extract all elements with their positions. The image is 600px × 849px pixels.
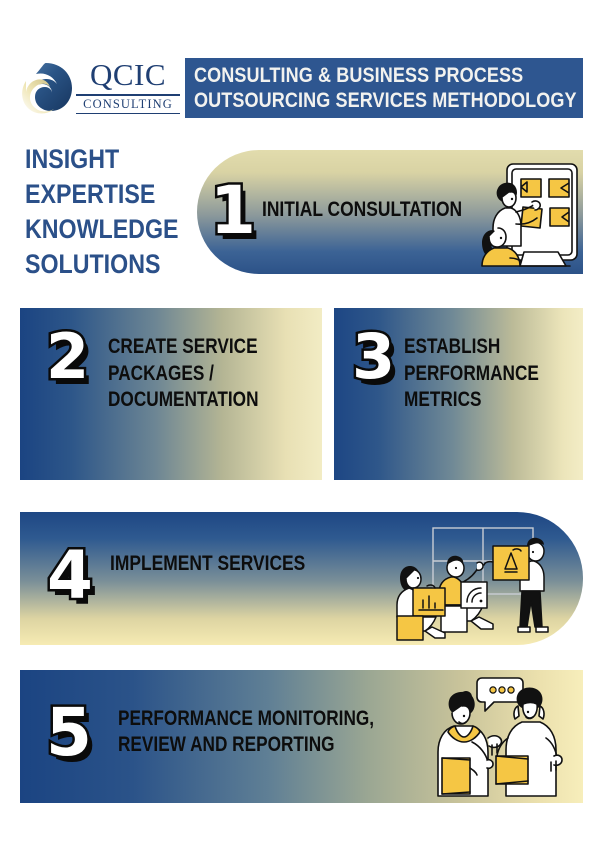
logo-subtitle: CONSULTING	[76, 98, 180, 111]
slogan-block: INSIGHT EXPERTISE KNOWLEDGE SOLUTIONS	[25, 142, 195, 282]
infographic-page: QCIC CONSULTING CONSULTING & BUSINESS PR…	[0, 0, 600, 849]
logo-divider-lower	[76, 113, 180, 114]
step-label-5: PERFORMANCE MONITORING, REVIEW AND REPOR…	[118, 706, 430, 758]
step-label-3: ESTABLISH PERFORMANCE METRICS	[404, 334, 569, 414]
logo-divider	[76, 94, 180, 96]
step-label-3-line-3: METRICS	[404, 387, 539, 414]
step-label-1-line-1: INITIAL CONSULTATION	[262, 198, 462, 222]
page-header: QCIC CONSULTING CONSULTING & BUSINESS PR…	[0, 0, 600, 132]
step-number-4: 4	[47, 543, 93, 609]
step-label-3-line-2: PERFORMANCE	[404, 361, 539, 388]
logo-wordmark-block: QCIC CONSULTING	[76, 59, 180, 114]
logo-wordmark: QCIC	[76, 59, 180, 90]
header-banner: CONSULTING & BUSINESS PROCESS OUTSOURCIN…	[185, 58, 583, 118]
swirl-spiral-icon	[18, 61, 74, 117]
step-label-5-line-2: REVIEW AND REPORTING	[118, 732, 374, 758]
slogan-line-expertise: EXPERTISE	[25, 177, 171, 212]
step-number-3: 3	[352, 326, 395, 388]
step-label-2-line-1: CREATE SERVICE	[108, 334, 259, 361]
slogan-line-insight: INSIGHT	[25, 142, 171, 177]
step-label-3-line-1: ESTABLISH	[404, 334, 539, 361]
step-number-5: 5	[46, 700, 92, 766]
banner-title-line-1: CONSULTING & BUSINESS PROCESS	[194, 63, 521, 88]
step-label-2: CREATE SERVICE PACKAGES / DOCUMENTATION	[108, 334, 292, 414]
team-presentation-charts-illustration	[385, 520, 565, 642]
slogan-line-knowledge: KNOWLEDGE	[25, 212, 171, 247]
banner-title-line-2: OUTSOURCING SERVICES METHODOLOGY	[194, 88, 521, 113]
whiteboard-sticky-notes-illustration	[466, 158, 584, 276]
step-label-4-line-1: IMPLEMENT SERVICES	[110, 551, 305, 576]
qcic-logo: QCIC CONSULTING	[18, 57, 180, 123]
step-label-2-line-3: DOCUMENTATION	[108, 387, 259, 414]
step-label-5-line-1: PERFORMANCE MONITORING,	[118, 706, 374, 732]
step-label-2-line-2: PACKAGES /	[108, 361, 259, 388]
slogan-line-solutions: SOLUTIONS	[25, 247, 171, 282]
step-number-2: 2	[46, 326, 89, 388]
two-people-discussing-folders-illustration	[430, 672, 566, 800]
step-number-1: 1	[210, 178, 256, 244]
step-label-4: IMPLEMENT SERVICES	[110, 551, 345, 576]
